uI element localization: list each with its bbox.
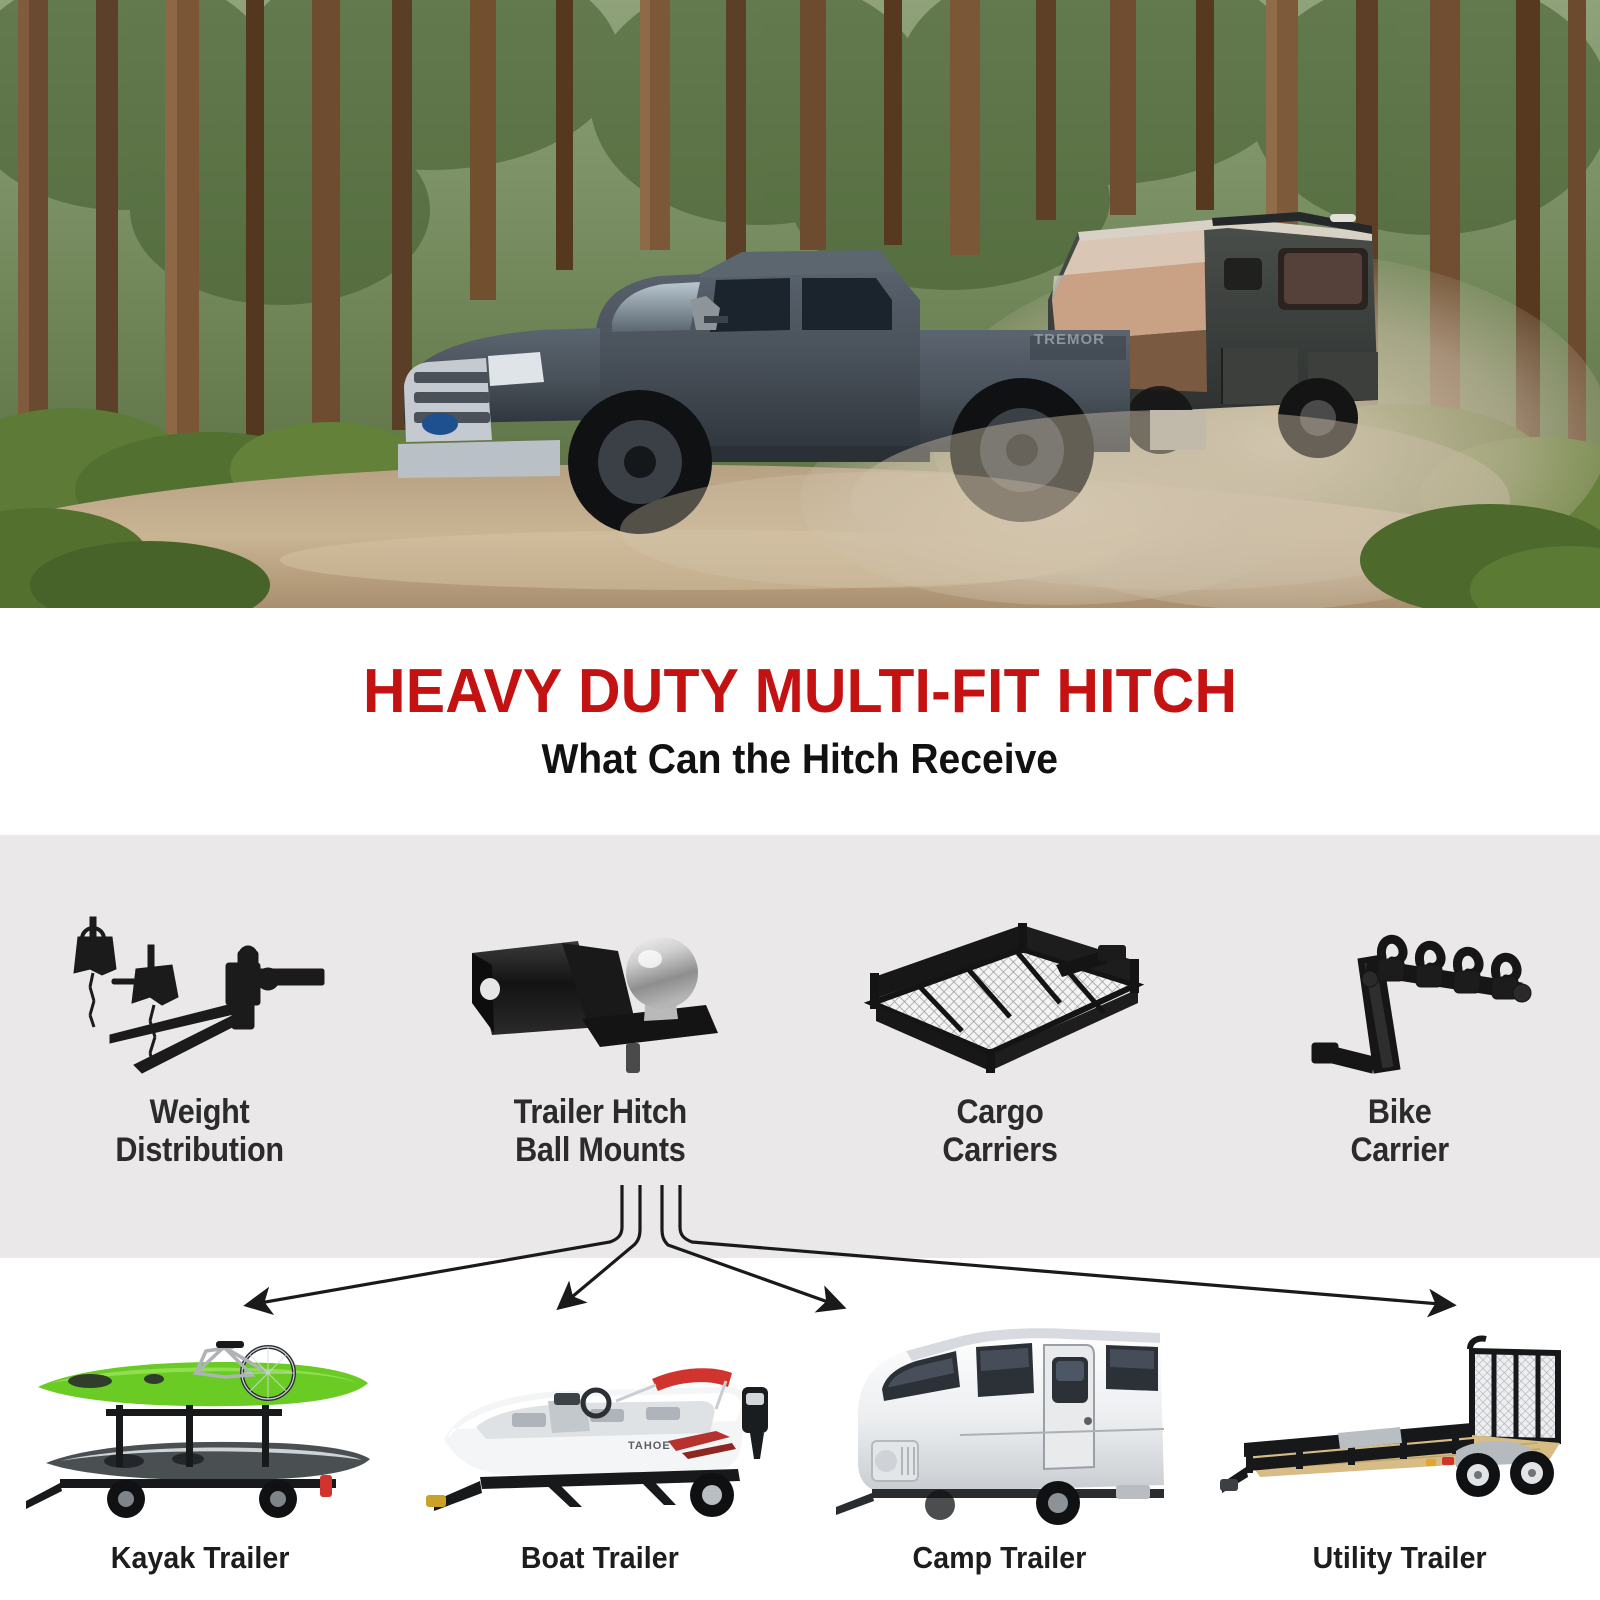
title-block: HEAVY DUTY MULTI-FIT HITCH What Can the … xyxy=(0,608,1600,835)
camp-trailer-icon xyxy=(820,1317,1180,1532)
accessory-item-ball-mount[interactable]: Trailer Hitch Ball Mounts xyxy=(400,835,800,1258)
infographic-page: TREMOR HEAVY xyxy=(0,0,1600,1600)
accessory-item-cargo-carrier[interactable]: Cargo Carriers xyxy=(800,835,1200,1258)
bike-carrier-icon xyxy=(1250,907,1550,1079)
trailer-label: Camp Trailer xyxy=(913,1540,1087,1576)
utility-trailer-icon xyxy=(1220,1317,1580,1532)
trailer-row: Kayak Trailer xyxy=(0,1258,1600,1600)
accessory-label: Bike Carrier xyxy=(1351,1093,1449,1169)
cargo-carrier-icon xyxy=(850,907,1150,1079)
trailer-item-kayak[interactable]: Kayak Trailer xyxy=(0,1258,400,1600)
accessory-section: Weight Distribution xyxy=(0,835,1600,1258)
trailer-label: Boat Trailer xyxy=(521,1540,679,1576)
accessory-label: Trailer Hitch Ball Mounts xyxy=(513,1093,686,1169)
boat-trailer-icon: TAHOE xyxy=(420,1317,780,1532)
page-subtitle: What Can the Hitch Receive xyxy=(542,735,1059,783)
accessory-row: Weight Distribution xyxy=(0,835,1600,1258)
ball-mount-icon xyxy=(450,907,750,1079)
accessory-item-weight-distribution[interactable]: Weight Distribution xyxy=(0,835,400,1258)
trailer-label: Utility Trailer xyxy=(1313,1540,1487,1576)
kayak-trailer-icon xyxy=(20,1317,380,1532)
svg-text:TREMOR: TREMOR xyxy=(1034,331,1105,348)
hero-illustration: TREMOR xyxy=(0,0,1600,608)
weight-distribution-hitch-icon xyxy=(50,907,350,1079)
trailer-item-boat[interactable]: TAHOE Boat Trailer xyxy=(400,1258,800,1600)
svg-text:TAHOE: TAHOE xyxy=(628,1440,671,1452)
trailer-section: Kayak Trailer xyxy=(0,1258,1600,1600)
trailer-item-camp[interactable]: Camp Trailer xyxy=(800,1258,1200,1600)
trailer-label: Kayak Trailer xyxy=(111,1540,290,1576)
page-title: HEAVY DUTY MULTI-FIT HITCH xyxy=(363,660,1237,723)
hero-photo: TREMOR xyxy=(0,0,1600,608)
accessory-item-bike-carrier[interactable]: Bike Carrier xyxy=(1200,835,1600,1258)
trailer-item-utility[interactable]: Utility Trailer xyxy=(1200,1258,1600,1600)
accessory-label: Weight Distribution xyxy=(116,1093,284,1169)
accessory-label: Cargo Carriers xyxy=(942,1093,1057,1169)
